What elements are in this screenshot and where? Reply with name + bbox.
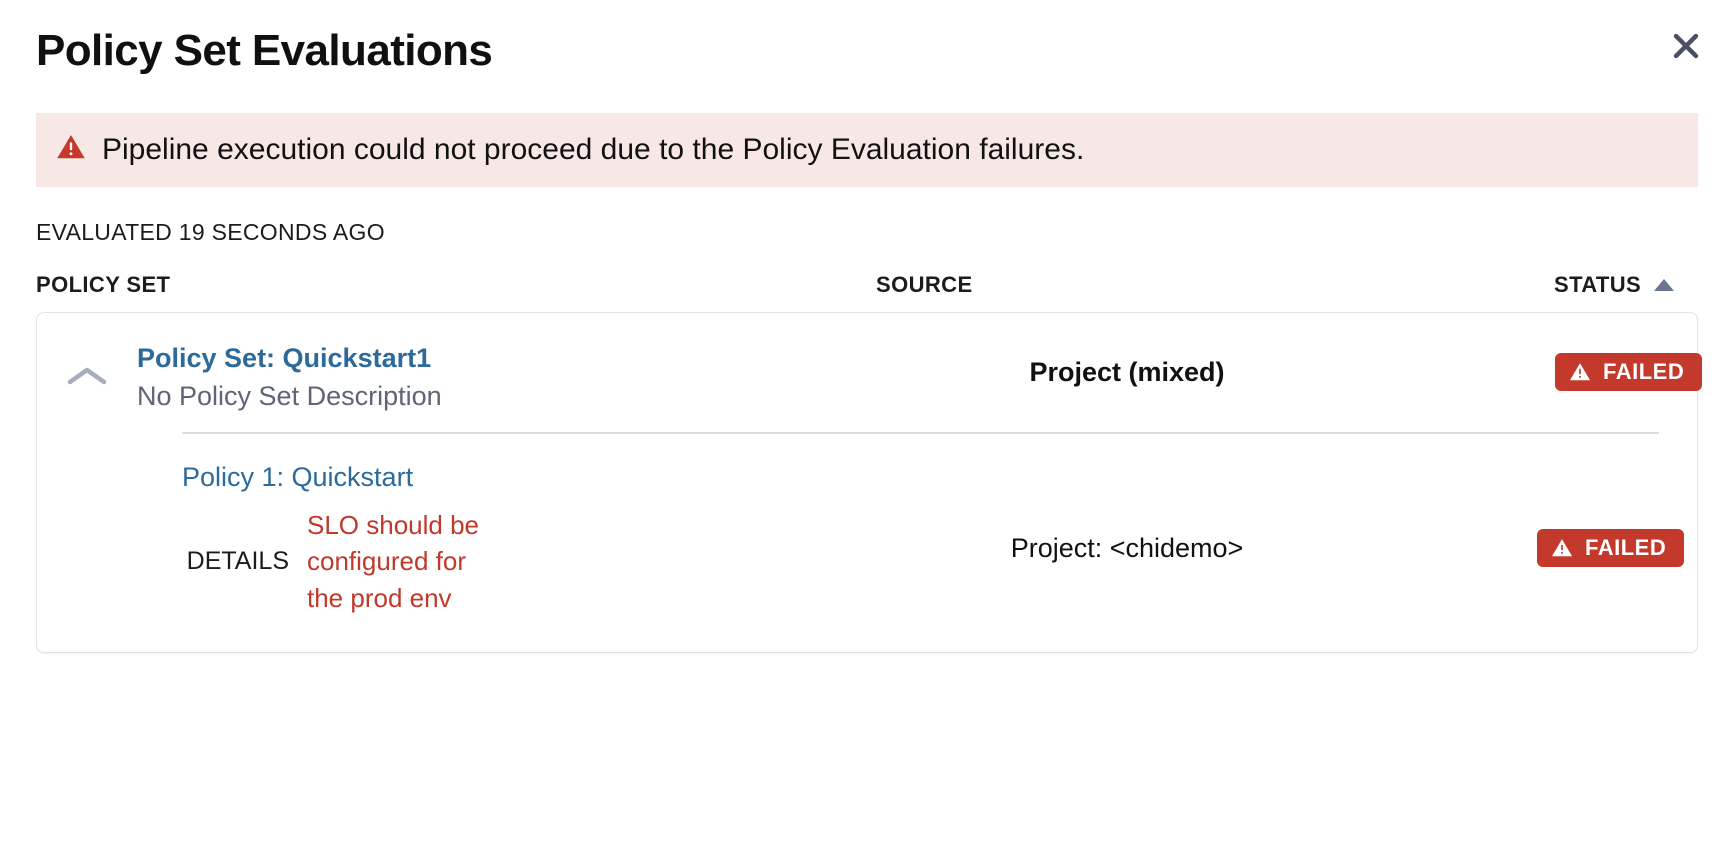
table-row: Policy Set: Quickstart1 No Policy Set De… bbox=[37, 313, 1697, 432]
column-header-policy-set: POLICY SET bbox=[36, 272, 876, 298]
warning-triangle-icon bbox=[1551, 537, 1573, 559]
policy-link[interactable]: Policy 1: Quickstart bbox=[37, 460, 413, 495]
policy-detail-body: DETAILS SLO should be configured for the… bbox=[37, 507, 1697, 616]
policy-status: FAILED bbox=[1377, 507, 1697, 567]
warning-triangle-icon bbox=[56, 132, 86, 167]
close-button[interactable] bbox=[1662, 22, 1710, 70]
policy-set-card: Policy Set: Quickstart1 No Policy Set De… bbox=[36, 312, 1698, 653]
status-badge-label: FAILED bbox=[1603, 361, 1684, 383]
policy-set-link[interactable]: Policy Set: Quickstart1 bbox=[137, 341, 431, 376]
page-title: Policy Set Evaluations bbox=[36, 26, 1698, 77]
warning-triangle-icon bbox=[1569, 361, 1591, 383]
status-badge-label: FAILED bbox=[1585, 537, 1666, 559]
details-value: SLO should be configured for the prod en… bbox=[307, 507, 487, 616]
policy-evaluations-table: POLICY SET SOURCE STATUS Policy Set: bbox=[36, 246, 1698, 653]
policy-set-status: FAILED bbox=[1377, 341, 1702, 391]
sort-ascending-icon bbox=[1653, 272, 1675, 298]
policy-set-info: Policy Set: Quickstart1 No Policy Set De… bbox=[137, 341, 877, 414]
close-icon bbox=[1669, 29, 1703, 63]
chevron-up-icon bbox=[66, 365, 108, 394]
error-alert-banner: Pipeline execution could not proceed due… bbox=[36, 113, 1698, 187]
column-header-status[interactable]: STATUS bbox=[1376, 272, 1698, 298]
modal-header: Policy Set Evaluations bbox=[0, 0, 1734, 77]
status-badge: FAILED bbox=[1555, 353, 1702, 391]
expand-collapse-toggle[interactable] bbox=[37, 341, 137, 394]
table-row: Policy 1: Quickstart DETAILS SLO should … bbox=[37, 434, 1697, 652]
policy-set-description: No Policy Set Description bbox=[137, 379, 877, 414]
status-badge: FAILED bbox=[1537, 529, 1684, 567]
alert-message: Pipeline execution could not proceed due… bbox=[102, 132, 1084, 168]
column-header-status-label: STATUS bbox=[1554, 272, 1641, 298]
policy-source: Project: <chidemo> bbox=[877, 507, 1377, 564]
evaluated-timestamp: EVALUATED 19 SECONDS AGO bbox=[36, 219, 1698, 246]
policy-details-cell: DETAILS SLO should be configured for the… bbox=[37, 507, 877, 616]
policy-set-source: Project (mixed) bbox=[877, 341, 1377, 388]
table-header-row: POLICY SET SOURCE STATUS bbox=[36, 246, 1698, 312]
details-label: DETAILS bbox=[182, 547, 307, 576]
column-header-source: SOURCE bbox=[876, 272, 1376, 298]
